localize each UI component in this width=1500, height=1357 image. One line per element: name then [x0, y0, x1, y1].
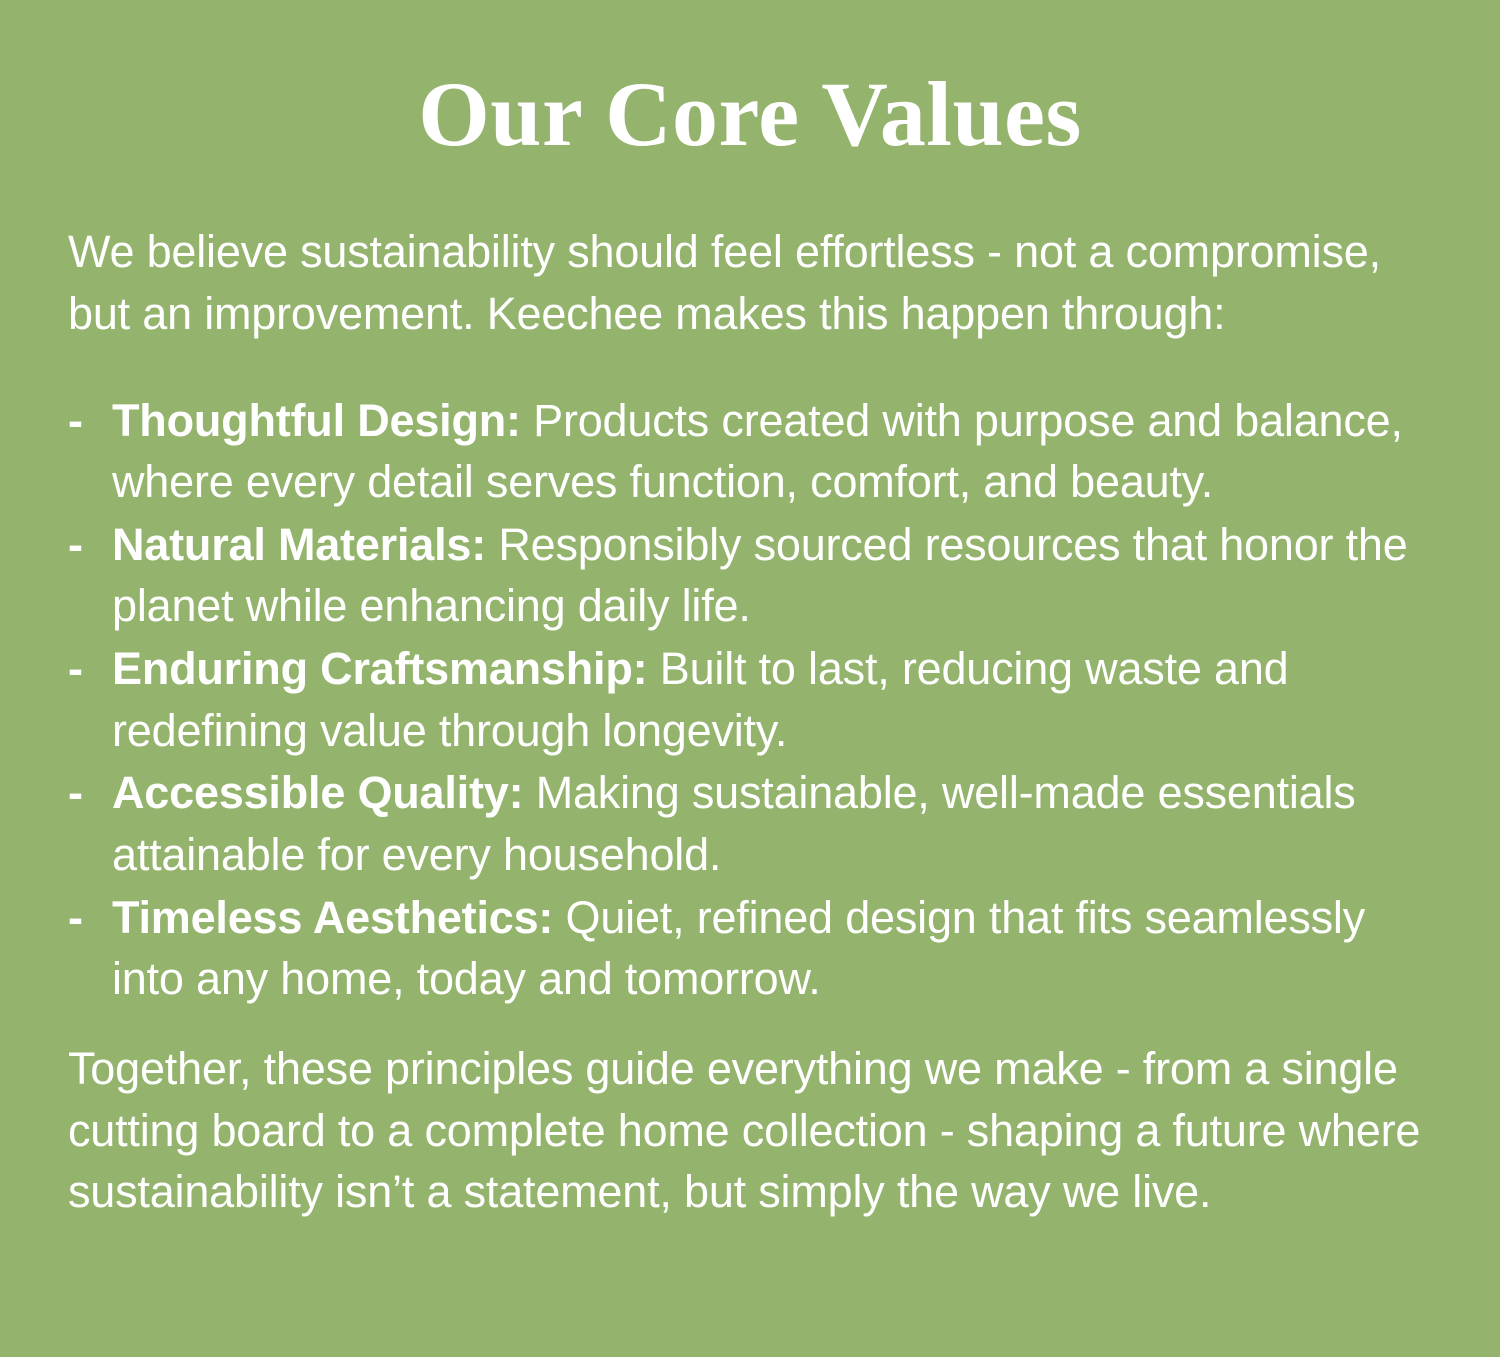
value-label: Natural Materials:	[112, 519, 486, 570]
bullet-dash-icon: -	[68, 514, 83, 576]
content-body: We believe sustainability should feel ef…	[0, 221, 1500, 1223]
bullet-dash-icon: -	[68, 638, 83, 700]
core-values-panel: Our Core Values We believe sustainabilit…	[0, 62, 1500, 1357]
bullet-dash-icon: -	[68, 390, 83, 452]
value-label: Enduring Craftsmanship:	[112, 643, 647, 694]
outro-paragraph: Together, these principles guide everyth…	[68, 1038, 1440, 1223]
intro-paragraph: We believe sustainability should feel ef…	[68, 221, 1440, 344]
list-item: -Natural Materials: Responsibly sourced …	[68, 514, 1440, 637]
list-item: -Timeless Aesthetics: Quiet, refined des…	[68, 887, 1440, 1010]
core-values-list: -Thoughtful Design: Products created wit…	[68, 390, 1440, 1010]
list-item: -Thoughtful Design: Products created wit…	[68, 390, 1440, 513]
bullet-dash-icon: -	[68, 887, 83, 949]
list-item: -Accessible Quality: Making sustainable,…	[68, 762, 1440, 885]
bullet-dash-icon: -	[68, 762, 83, 824]
value-label: Accessible Quality:	[112, 767, 523, 818]
list-item: -Enduring Craftsmanship: Built to last, …	[68, 638, 1440, 761]
page-title: Our Core Values	[0, 62, 1500, 160]
value-label: Timeless Aesthetics:	[112, 892, 553, 943]
value-label: Thoughtful Design:	[112, 395, 521, 446]
